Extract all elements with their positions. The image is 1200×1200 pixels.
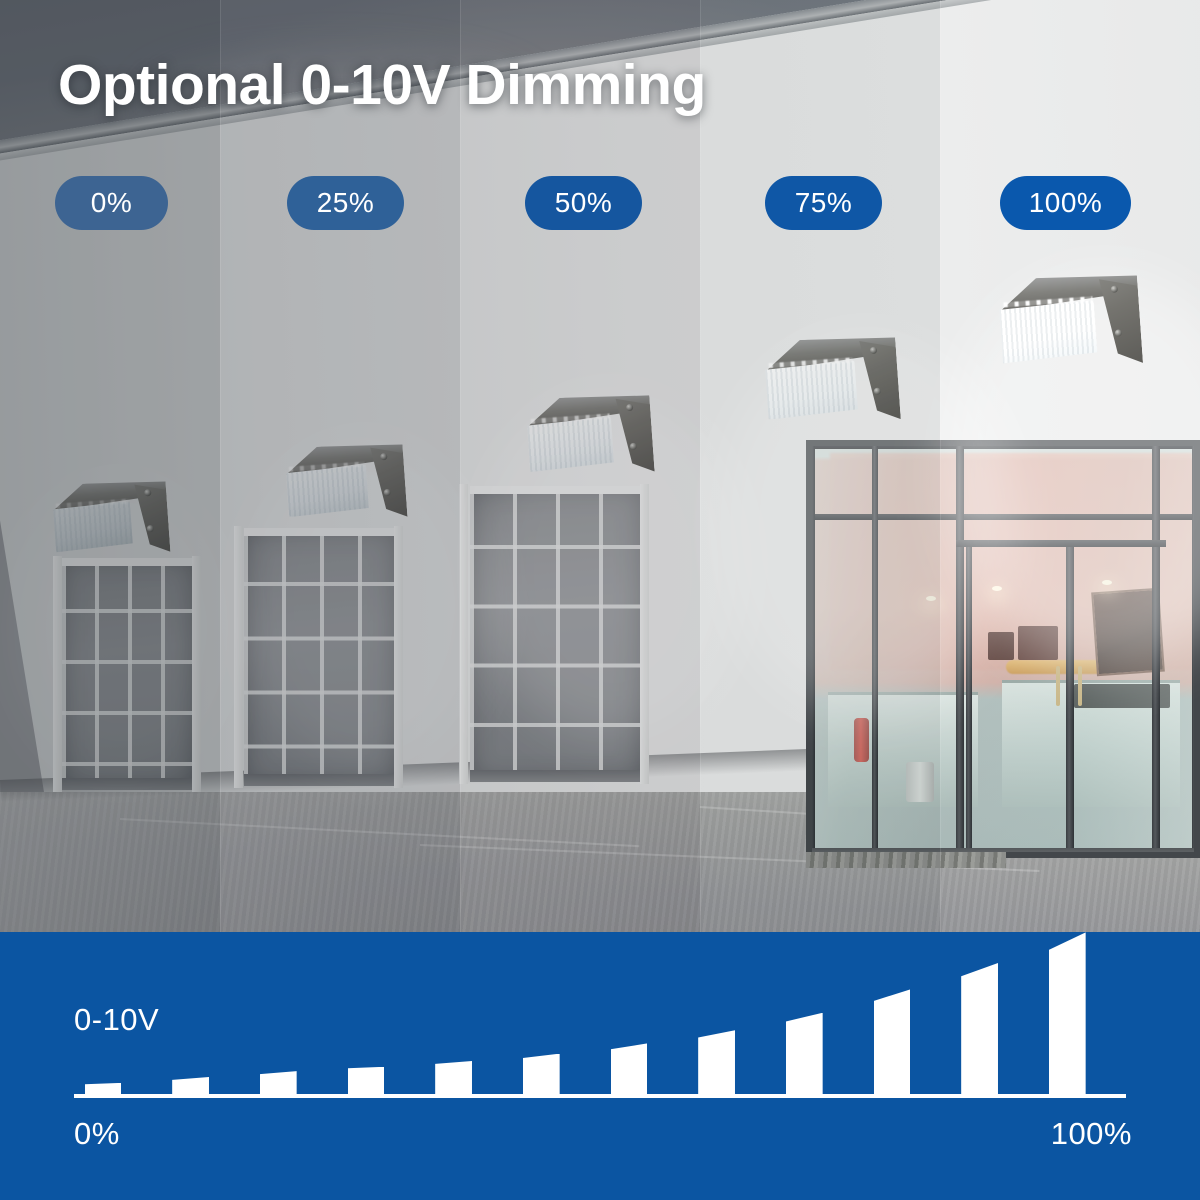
dimming-badge-0[interactable]: 0% (55, 176, 168, 230)
dimming-badge-50[interactable]: 50% (525, 176, 642, 230)
chart-bar (786, 1013, 823, 1096)
dimming-badge-100[interactable]: 100% (1000, 176, 1131, 230)
page-title: Optional 0-10V Dimming (58, 52, 706, 118)
chart-bar (260, 1071, 297, 1096)
chart-title: 0-10V (74, 1002, 159, 1038)
garage-door-3 (470, 486, 642, 782)
led-wall-pack-light-3 (521, 392, 654, 481)
dimming-badge-label: 50% (555, 187, 613, 219)
led-wall-pack-light-5 (993, 271, 1143, 373)
gravel-strip (806, 852, 1006, 868)
dimming-badge-label: 0% (91, 187, 132, 219)
led-wall-pack-light-4 (759, 333, 901, 428)
chart-bar (698, 1030, 735, 1096)
dimming-badge-25[interactable]: 25% (287, 176, 404, 230)
chart-baseline (74, 1094, 1126, 1098)
chart-axis-max-label: 100% (1051, 1116, 1132, 1152)
dimming-chart-panel (0, 932, 1200, 1200)
dimming-badge-label: 75% (795, 187, 853, 219)
garage-door-1 (62, 558, 194, 790)
dimming-badge-label: 25% (317, 187, 375, 219)
chart-bar (961, 963, 998, 1096)
chart-axis-min-label: 0% (74, 1116, 120, 1152)
fixture-lens-4 (765, 360, 858, 419)
led-wall-pack-light-1 (48, 478, 171, 560)
chart-bar (1049, 932, 1086, 1096)
fixture-lens-5 (999, 300, 1098, 364)
dimming-badge-label: 100% (1029, 187, 1103, 219)
led-wall-pack-light-2 (280, 441, 407, 525)
chart-bar (523, 1054, 560, 1096)
fixture-lens-1 (53, 501, 134, 552)
building-photo (0, 0, 1200, 932)
chart-bar (611, 1043, 648, 1096)
fixture-lens-3 (527, 417, 615, 472)
glass-storefront (806, 440, 1200, 858)
product-feature-graphic: Optional 0-10V Dimming 0% 25% 50% 75% 10… (0, 0, 1200, 1200)
chart-bar (348, 1067, 385, 1096)
garage-door-2 (244, 528, 396, 786)
chart-bar (435, 1061, 472, 1096)
chart-bar (874, 989, 911, 1096)
fixture-lens-2 (286, 465, 370, 518)
dimming-badge-75[interactable]: 75% (765, 176, 882, 230)
